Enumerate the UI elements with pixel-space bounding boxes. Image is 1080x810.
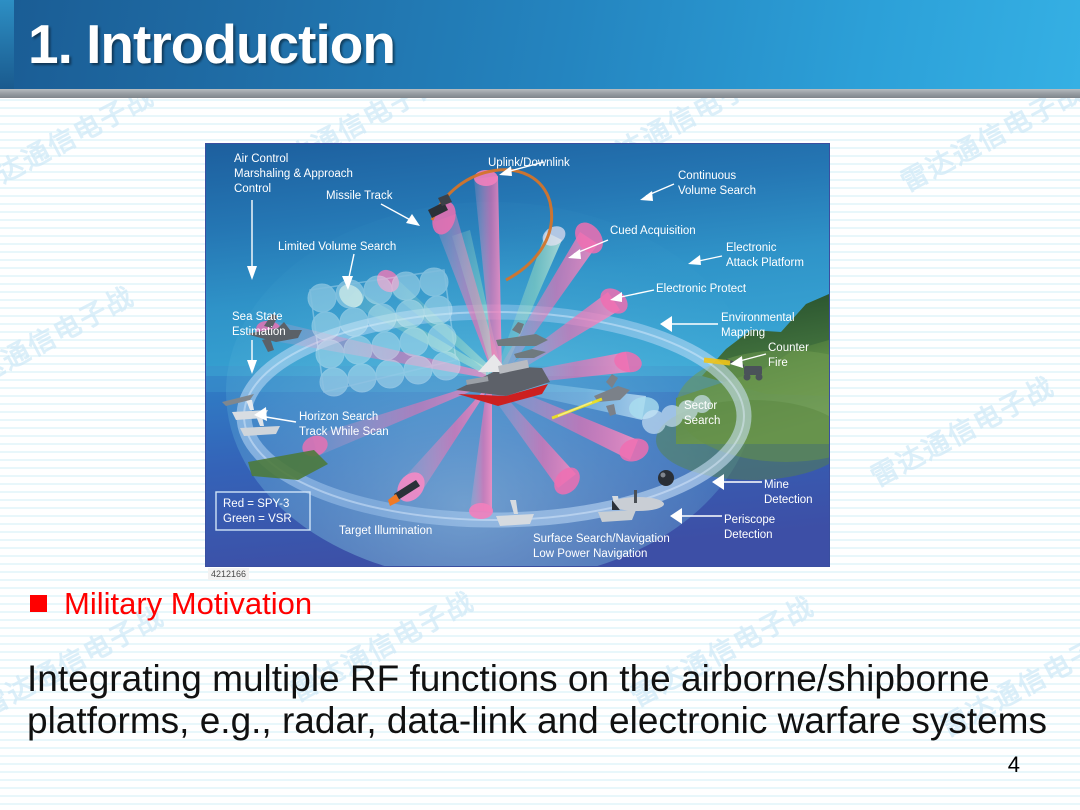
- label-marshaling: Marshaling & Approach: [234, 168, 353, 180]
- label-air-control: Air Control: [234, 153, 288, 165]
- figure-caption: 4212166: [208, 568, 249, 580]
- radar-functions-diagram: Air Control Marshaling & Approach Contro…: [205, 143, 830, 567]
- watermark-text: 雷达通信电子战: [0, 275, 140, 405]
- label-sea-state-2: Estimation: [232, 326, 286, 338]
- label-missile-track: Missile Track: [326, 190, 393, 202]
- label-counter-2: Fire: [768, 357, 788, 369]
- label-horizon-2: Track While Scan: [299, 426, 389, 438]
- label-ea-1: Electronic: [726, 242, 777, 254]
- legend-line-green: Green = VSR: [223, 513, 292, 525]
- label-limited-volume-search: Limited Volume Search: [278, 241, 396, 253]
- legend-line-red: Red = SPY-3: [223, 498, 289, 510]
- label-periscope-1: Periscope: [724, 514, 775, 526]
- label-horizon-1: Horizon Search: [299, 411, 378, 423]
- label-uplink-downlink: Uplink/Downlink: [488, 157, 570, 169]
- label-counter-1: Counter: [768, 342, 809, 354]
- body-paragraph: Integrating multiple RF functions on the…: [27, 658, 1047, 742]
- label-sector-2: Search: [684, 415, 720, 427]
- label-ea-2: Attack Platform: [726, 257, 804, 269]
- page-title: 1. Introduction: [28, 12, 395, 76]
- label-electronic-protect: Electronic Protect: [656, 283, 747, 295]
- bullet-item: Military Motivation: [30, 588, 312, 619]
- label-mine-2: Detection: [764, 494, 813, 506]
- label-sector-1: Sector: [684, 400, 717, 412]
- label-mine-1: Mine: [764, 479, 789, 491]
- page-number: 4: [1008, 752, 1020, 778]
- label-cued-acquisition: Cued Acquisition: [610, 225, 696, 237]
- label-surface-1: Surface Search/Navigation: [533, 533, 670, 545]
- label-surface-2: Low Power Navigation: [533, 548, 647, 560]
- watermark-text: 雷达通信电子战: [863, 365, 1061, 495]
- label-target-illumination: Target Illumination: [339, 525, 432, 537]
- mine: [658, 470, 674, 486]
- label-env-2: Mapping: [721, 327, 765, 339]
- header-divider: [0, 89, 1080, 98]
- volume-search-cells: [308, 268, 460, 396]
- bullet-square-icon: [30, 595, 47, 612]
- label-control: Control: [234, 183, 271, 195]
- label-continuous-1: Continuous: [678, 170, 736, 182]
- label-env-1: Environmental: [721, 312, 795, 324]
- label-sea-state-1: Sea State: [232, 311, 283, 323]
- label-periscope-2: Detection: [724, 529, 773, 541]
- header-accent-stripe: [0, 0, 14, 89]
- bullet-label: Military Motivation: [64, 588, 312, 619]
- presentation-slide: 雷达通信电子战 雷达通信电子战 雷达通信电子战 雷达通信电子战 雷达通信电子战 …: [0, 0, 1080, 810]
- label-continuous-2: Volume Search: [678, 185, 756, 197]
